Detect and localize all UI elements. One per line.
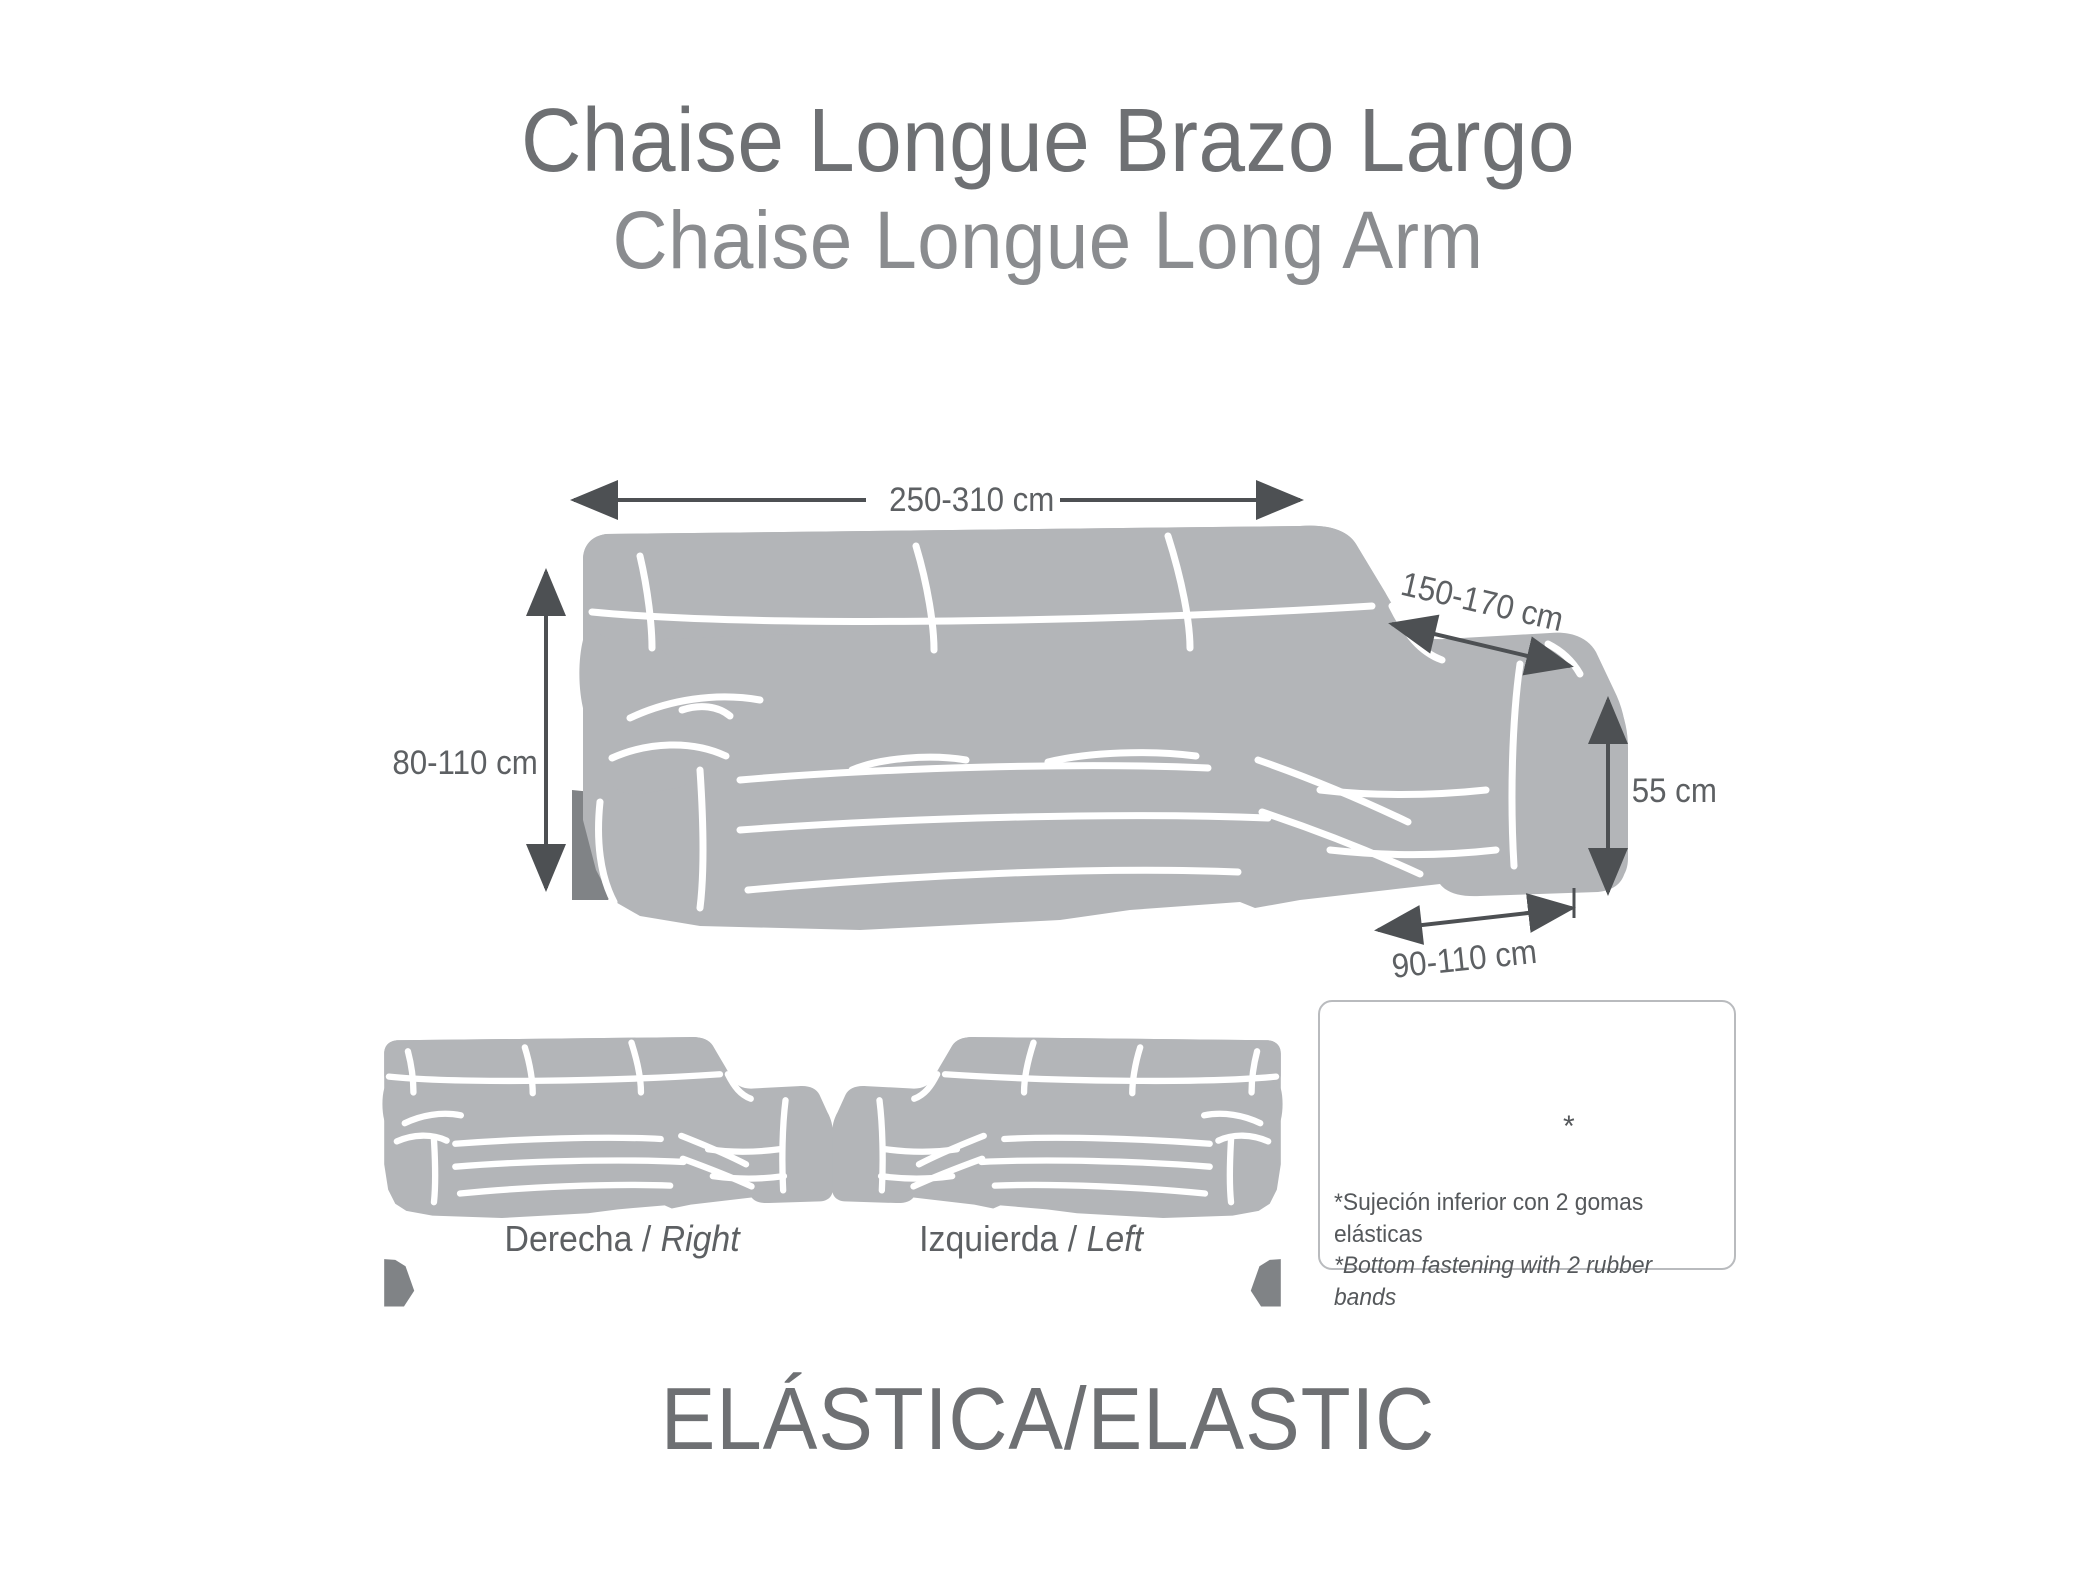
variant-label-left: Izquierda / Left (919, 1218, 1143, 1260)
variant-left-sep: / (1058, 1218, 1086, 1259)
variant-label-right: Derecha / Right (505, 1218, 740, 1260)
variant-left-en: Left (1087, 1218, 1143, 1259)
variant-right-illustration (382, 1037, 832, 1307)
variant-left-illustration (832, 1037, 1282, 1307)
variant-right-right-arm (782, 1087, 833, 1201)
sofa-right-arm (1512, 636, 1628, 890)
variant-right-shadow (384, 1259, 414, 1306)
dim-label-height: 80-110 cm (392, 744, 537, 783)
variant-left-right-arm (832, 1087, 883, 1201)
diagram-svg (0, 0, 2096, 1572)
footnote-english: *Bottom fastening with 2 rubber bands (1334, 1250, 1714, 1313)
variant-left-shadow (1251, 1259, 1281, 1306)
dim-label-seat-height: 55 cm (1632, 772, 1717, 811)
illustration-stage: 250-310 cm 150-170 cm 80-110 cm 55 cm 90… (0, 0, 2096, 1572)
bottom-label-elastic: ELÁSTICA/ELASTIC (73, 1368, 2022, 1470)
footnote-text-block: *Sujeción inferior con 2 gomas elásticas… (1334, 1187, 1714, 1314)
footnote-asterisk-marker: * (1563, 1110, 1575, 1144)
dim-chaise-depth (1378, 908, 1572, 930)
footnote-spanish: *Sujeción inferior con 2 gomas elásticas (1334, 1187, 1714, 1250)
product-diagram-page: Chaise Longue Brazo Largo Chaise Longue … (0, 0, 2096, 1572)
dim-label-width: 250-310 cm (889, 481, 1054, 520)
variant-right-en: Right (661, 1218, 740, 1259)
variant-left-es: Izquierda (919, 1218, 1058, 1259)
variant-right-es: Derecha (505, 1218, 633, 1259)
variant-right-sep: / (632, 1218, 660, 1259)
footnote-box: * *Sujeción inferior con 2 gomas elástic… (1318, 1000, 1736, 1270)
